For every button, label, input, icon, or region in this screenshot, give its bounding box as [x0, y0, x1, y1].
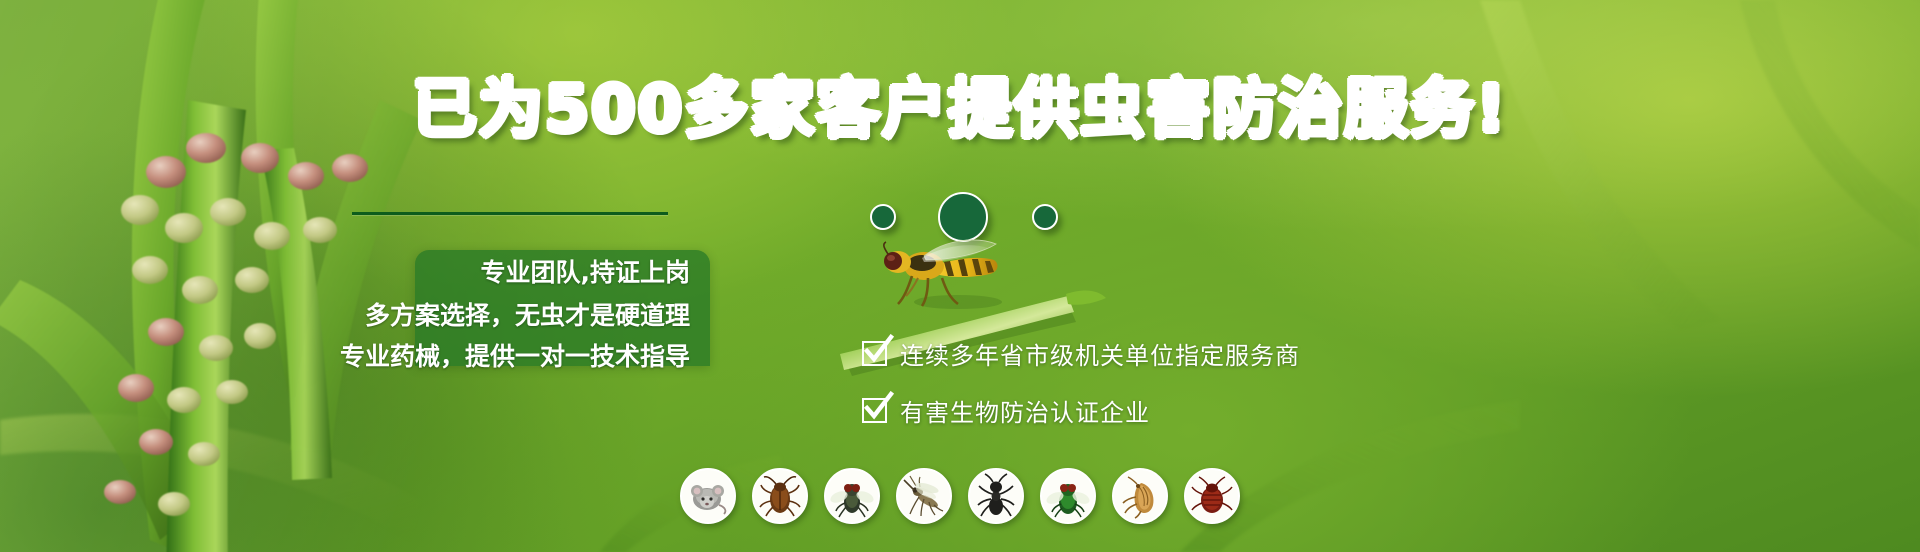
cockroach-icon [752, 468, 808, 524]
flea-icon [1112, 468, 1168, 524]
mosquito-icon [896, 468, 952, 524]
certification-bullet-list: 连续多年省市级机关单位指定服务商 有害生物防治认证企业 [862, 336, 1402, 450]
bullet-item: 有害生物防治认证企业 [862, 393, 1402, 428]
bullet-item: 连续多年省市级机关单位指定服务商 [862, 336, 1402, 371]
blowfly-icon [1040, 468, 1096, 524]
selling-point-line-2: 多方案选择，无虫才是硬道理 [337, 301, 690, 331]
banner-headline: 已为500多家客户提供虫害防治服务! [0, 78, 1920, 142]
pest-icon-row [680, 468, 1240, 524]
bedbug-icon [1184, 468, 1240, 524]
fly-icon [824, 468, 880, 524]
mouse-icon [680, 468, 736, 524]
bullet-label: 有害生物防治认证企业 [900, 393, 1150, 428]
checkbox-checked-icon [862, 341, 887, 366]
banner-headline-text: 已为500多家客户提供虫害防治服务! [413, 73, 1508, 147]
decor-dot-small-right [1032, 204, 1058, 230]
selling-points-text: 专业团队,持证上岗 多方案选择，无虫才是硬道理 专业药械，提供一对一技术指导 [337, 258, 712, 372]
pest-control-hero-banner: 已为500多家客户提供虫害防治服务! 专业团队,持证上岗 多方案选择，无虫才是硬… [0, 0, 1920, 552]
ant-icon [968, 468, 1024, 524]
selling-point-line-3: 专业药械，提供一对一技术指导 [337, 342, 690, 372]
divider-line [352, 212, 668, 215]
checkbox-checked-icon [862, 398, 887, 423]
decor-dot-small-left [870, 204, 896, 230]
bullet-label: 连续多年省市级机关单位指定服务商 [900, 336, 1300, 371]
selling-point-line-1: 专业团队,持证上岗 [337, 258, 690, 288]
